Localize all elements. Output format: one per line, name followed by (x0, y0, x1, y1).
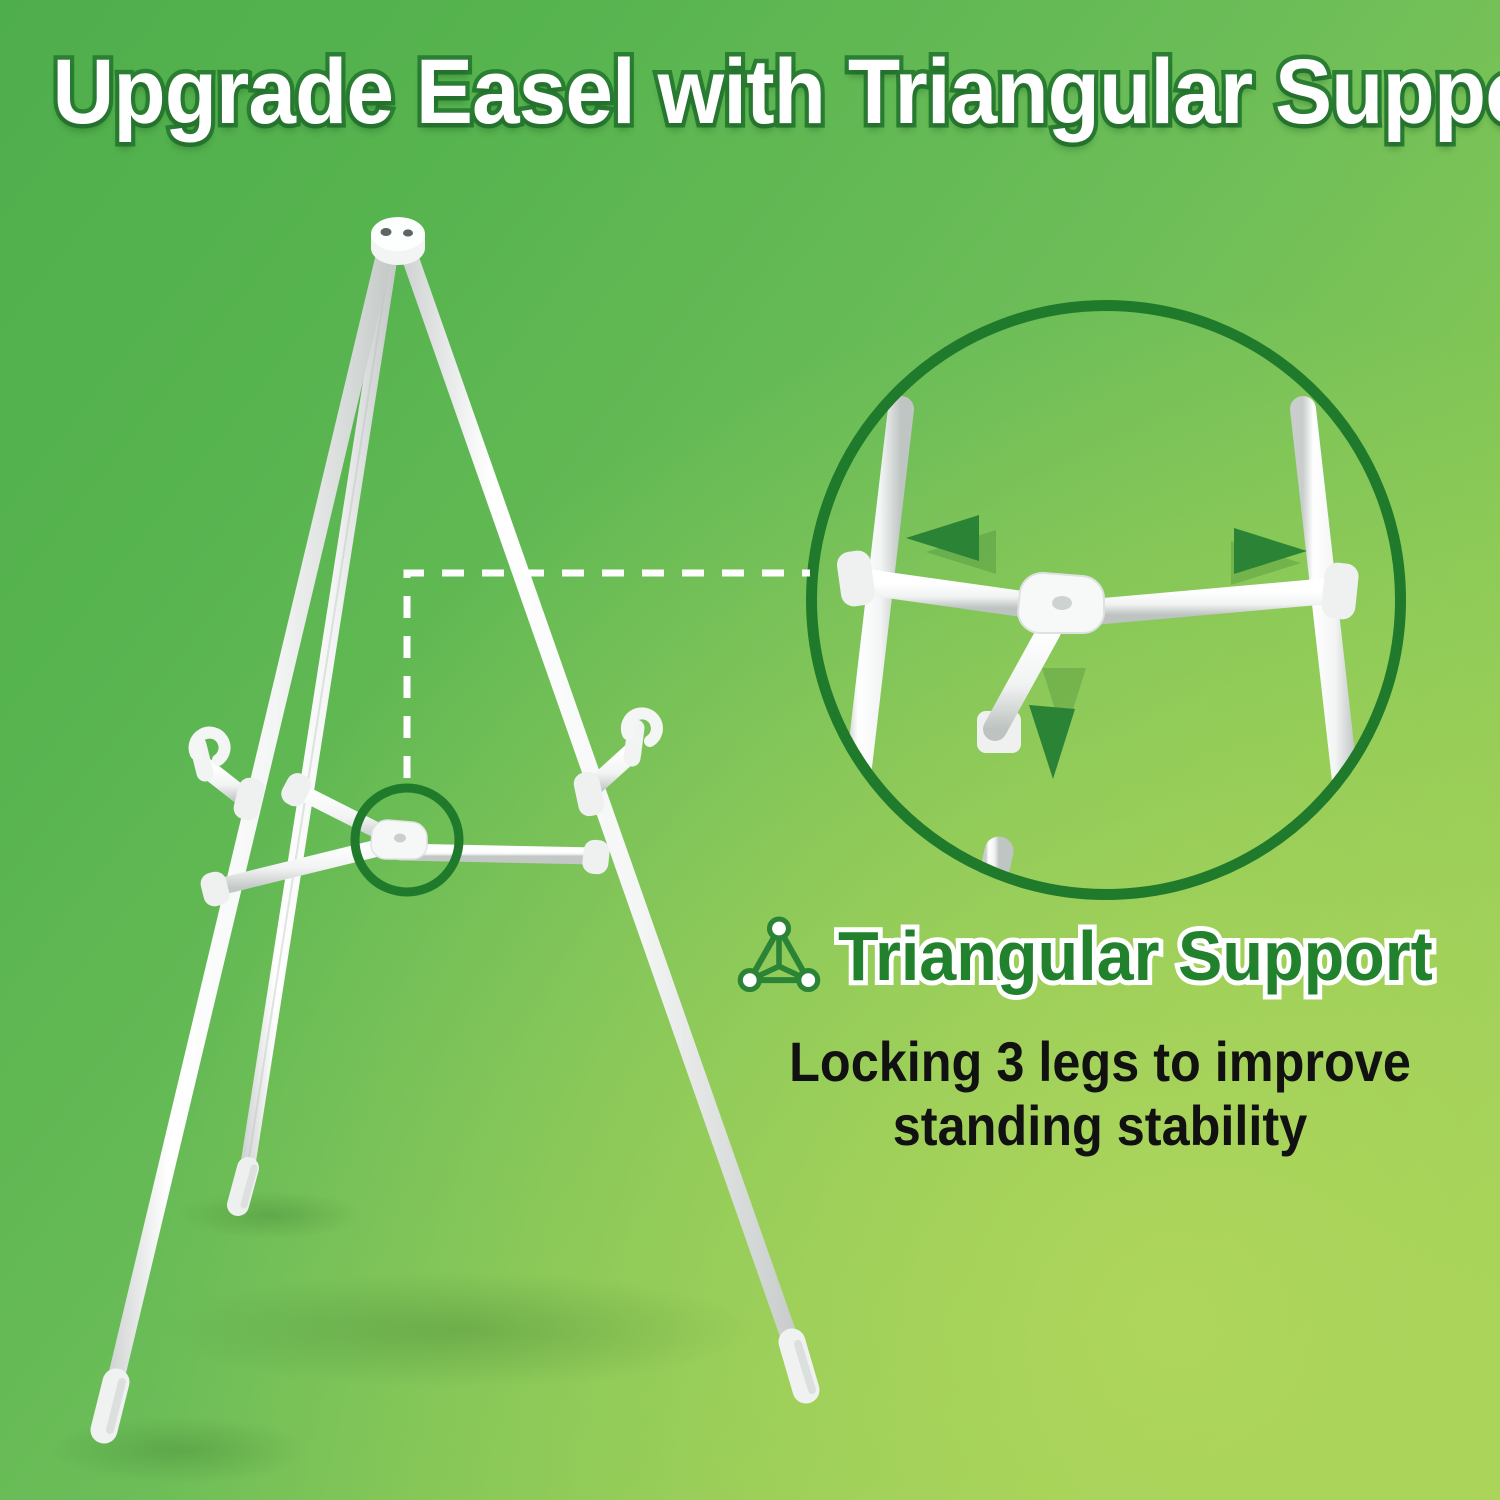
detail-magnifier-circle (806, 300, 1406, 900)
screw-hole-left (381, 228, 392, 236)
feature-heading-row: Triangular Support (700, 908, 1500, 1004)
detail-left-leg (847, 409, 901, 869)
feature-block: Triangular Support Locking 3 legs to imp… (700, 908, 1500, 1158)
feature-description: Locking 3 legs to improve standing stabi… (740, 1030, 1460, 1158)
screw-hole-right (403, 229, 413, 236)
triangular-support-icon (736, 913, 822, 999)
detail-collar-left (835, 549, 876, 608)
brace-collar-right (581, 839, 610, 876)
detail-hub-pivot-screw (1052, 596, 1072, 610)
arrow-down-icon (1029, 705, 1075, 779)
poster-canvas: Upgrade Easel with Triangular Support (0, 0, 1500, 1500)
detail-rear-leg-lower (986, 851, 999, 900)
brace-arm-right (400, 852, 596, 856)
top-cap (371, 217, 425, 265)
foot-cap-left (104, 1382, 122, 1430)
foot-cap-right (792, 1342, 812, 1390)
hub-pivot-screw (394, 834, 406, 843)
feature-title: Triangular Support (838, 919, 1433, 993)
easel-illustration (0, 0, 900, 1500)
detail-magnifier-content (806, 300, 1406, 900)
detail-collar-right (1320, 561, 1360, 620)
detail-right-leg (1303, 409, 1355, 869)
